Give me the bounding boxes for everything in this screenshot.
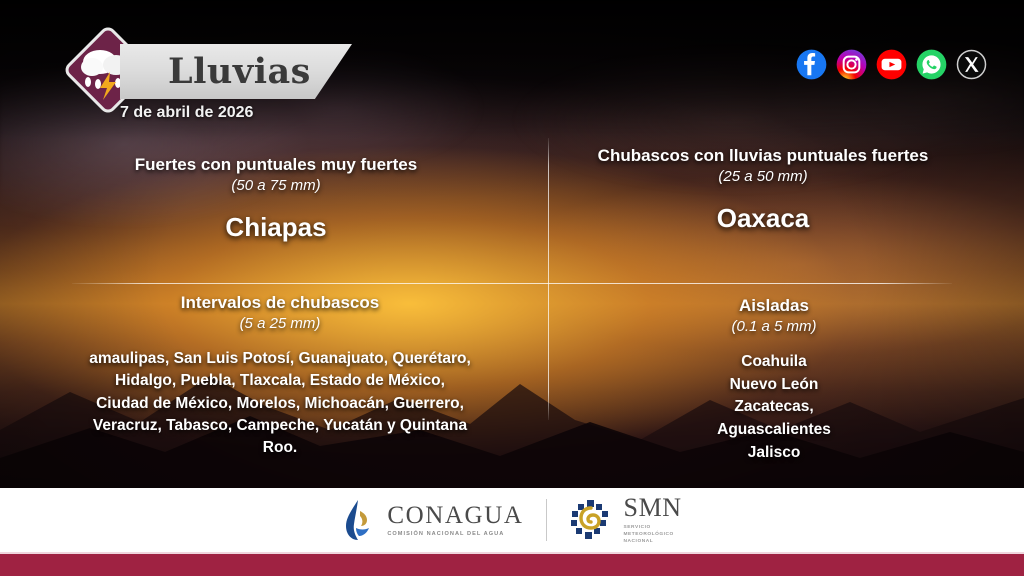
footer-bar-main [0, 554, 1024, 576]
smn-logo: SMN SERVICIO METEOROLÓGICO NACIONAL [569, 495, 682, 546]
quadrant-fuertes-puntuales: Fuertes con puntuales muy fuertes (50 a … [108, 155, 444, 243]
instagram-icon[interactable] [835, 48, 868, 81]
youtube-icon[interactable] [875, 48, 908, 81]
footer-accent-bar [0, 552, 1024, 576]
quadrant-chubascos-puntuales-fuertes: Chubascos con lluvias puntuales fuertes … [588, 146, 938, 234]
vertical-divider [548, 138, 549, 420]
weather-infographic-poster: Lluvias 7 de abril de 2026 [0, 0, 1024, 576]
whatsapp-icon[interactable] [915, 48, 948, 81]
quadrant-range: (25 a 50 mm) [588, 168, 938, 185]
logo-divider [546, 499, 547, 541]
conagua-name: CONAGUA [387, 503, 523, 528]
horizontal-divider [72, 283, 952, 284]
conagua-logo: CONAGUA COMISIÓN NACIONAL DEL AGUA [342, 497, 523, 543]
conagua-subtitle: COMISIÓN NACIONAL DEL AGUA [387, 531, 523, 537]
quadrant-aisladas: Aisladas (0.1 a 5 mm) Coahuila Nuevo Leó… [610, 296, 938, 464]
social-links [795, 48, 988, 81]
x-twitter-icon[interactable] [955, 48, 988, 81]
quadrant-range: (5 a 25 mm) [88, 315, 472, 332]
quadrant-states: amaulipas, San Luis Potosí, Guanajuato, … [88, 348, 472, 460]
quadrant-intervalos-chubascos: Intervalos de chubascos (5 a 25 mm) amau… [88, 293, 472, 460]
smn-name: SMN [624, 495, 682, 521]
quadrant-heading: Fuertes con puntuales muy fuertes [108, 155, 444, 175]
quadrant-range: (0.1 a 5 mm) [610, 318, 938, 335]
smn-subtitle: SERVICIO METEOROLÓGICO NACIONAL [624, 524, 682, 546]
footer-logos: CONAGUA COMISIÓN NACIONAL DEL AGUA [0, 488, 1024, 552]
facebook-icon[interactable] [795, 48, 828, 81]
page-title-banner: Lluvias [120, 44, 352, 99]
spiral-wind-icon [569, 498, 613, 542]
quadrant-states: Coahuila Nuevo León Zacatecas, Aguascali… [610, 351, 938, 464]
quadrant-states: Oaxaca [588, 203, 938, 234]
quadrant-states: Chiapas [108, 212, 444, 243]
quadrant-heading: Aisladas [610, 296, 938, 316]
forecast-date: 7 de abril de 2026 [120, 104, 253, 122]
quadrant-range: (50 a 75 mm) [108, 177, 444, 194]
water-drop-eagle-icon [342, 497, 376, 543]
quadrant-heading: Intervalos de chubascos [88, 293, 472, 313]
quadrant-heading: Chubascos con lluvias puntuales fuertes [588, 146, 938, 166]
page-title: Lluvias [168, 54, 311, 89]
